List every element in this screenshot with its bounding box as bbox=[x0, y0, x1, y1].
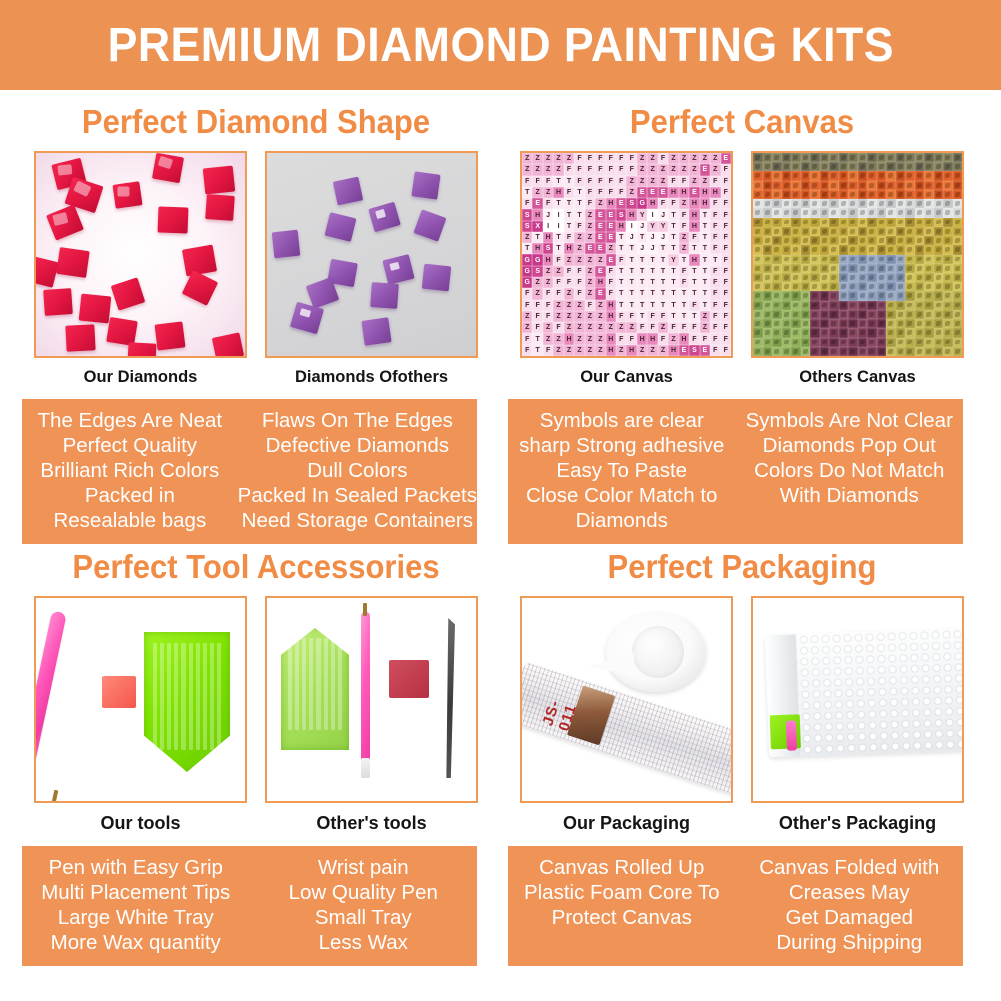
canvas-grid-cell bbox=[896, 218, 906, 227]
canvas-symbol-cell: H bbox=[532, 209, 542, 220]
canvas-grid-cell bbox=[820, 273, 830, 282]
section-diamond-shape: Perfect Diamond Shape bbox=[22, 103, 490, 544]
our-canvas-image: ZZZZZFFFFFFZZFZZZZZEZZZZFFFFFFFZZZZZZEZF… bbox=[520, 151, 733, 358]
canvas-symbol-cell: F bbox=[553, 322, 563, 333]
canvas-grid-cell bbox=[810, 162, 820, 171]
canvas-grid-cell bbox=[810, 328, 820, 337]
canvas-grid-cell bbox=[953, 255, 963, 264]
canvas-grid-cell bbox=[934, 162, 944, 171]
canvas-grid-cell bbox=[791, 255, 801, 264]
canvas-symbol-cell: G bbox=[522, 254, 532, 265]
canvas-symbol-cell: G bbox=[522, 277, 532, 288]
canvas-grid-cell bbox=[934, 199, 944, 208]
canvas-grid-cell bbox=[782, 338, 792, 347]
canvas-symbol-cell: S bbox=[532, 266, 542, 277]
canvas-symbol-cell: F bbox=[721, 254, 731, 265]
canvas-symbol-cell: S bbox=[689, 345, 699, 356]
canvas-symbol-cell: J bbox=[658, 209, 668, 220]
canvas-symbol-cell: Z bbox=[595, 345, 605, 356]
canvas-symbol-cell: Z bbox=[585, 277, 595, 288]
canvas-grid-cell bbox=[791, 291, 801, 300]
blurred-canvas-grid bbox=[753, 153, 962, 356]
canvas-symbol-cell: F bbox=[606, 266, 616, 277]
diamond-chip bbox=[212, 332, 244, 358]
canvas-symbol-cell: T bbox=[626, 300, 636, 311]
canvas-grid-cell bbox=[810, 236, 820, 245]
canvas-symbol-cell: E bbox=[616, 198, 626, 209]
canvas-symbol-cell: F bbox=[606, 164, 616, 175]
canvas-symbol-cell: X bbox=[532, 221, 542, 232]
canvas-grid-cell bbox=[829, 310, 839, 319]
canvas-symbol-cell: Z bbox=[543, 277, 553, 288]
canvas-grid-cell bbox=[886, 181, 896, 190]
canvas-grid-cell bbox=[772, 273, 782, 282]
canvas-grid-cell bbox=[877, 245, 887, 254]
canvas-symbol-cell: Z bbox=[647, 176, 657, 187]
canvas-symbol-cell: F bbox=[585, 187, 595, 198]
canvas-grid-cell bbox=[829, 227, 839, 236]
canvas-grid-cell bbox=[867, 199, 877, 208]
canvas-grid-cell bbox=[905, 245, 915, 254]
canvas-grid-cell bbox=[934, 171, 944, 180]
canvas-symbol-cell: T bbox=[679, 254, 689, 265]
page-title: PREMIUM DIAMOND PAINTING KITS bbox=[107, 18, 893, 73]
canvas-grid-cell bbox=[886, 199, 896, 208]
section-packaging: Perfect Packaging JS-011 Our Packaging bbox=[508, 548, 976, 966]
panel-row: JS-011 Our Packaging Other's Packaging bbox=[508, 596, 976, 834]
canvas-symbol-cell: H bbox=[595, 277, 605, 288]
canvas-grid-cell bbox=[829, 208, 839, 217]
canvas-grid-cell bbox=[867, 181, 877, 190]
canvas-grid-cell bbox=[782, 291, 792, 300]
canvas-grid-cell bbox=[915, 319, 925, 328]
canvas-symbol-cell: F bbox=[637, 322, 647, 333]
textbox-column-ours: Pen with Easy Grip Multi Placement Tips … bbox=[22, 855, 250, 955]
canvas-symbol-cell: T bbox=[658, 288, 668, 299]
canvas-symbol-cell: T bbox=[522, 243, 532, 254]
canvas-grid-cell bbox=[820, 181, 830, 190]
canvas-grid-cell bbox=[829, 171, 839, 180]
canvas-grid-cell bbox=[953, 319, 963, 328]
canvas-symbol-cell: F bbox=[658, 333, 668, 344]
canvas-grid-cell bbox=[763, 199, 773, 208]
canvas-symbol-cell: J bbox=[647, 243, 657, 254]
canvas-symbol-cell: T bbox=[668, 277, 678, 288]
canvas-grid-cell bbox=[801, 218, 811, 227]
canvas-grid-cell bbox=[915, 199, 925, 208]
canvas-grid-cell bbox=[848, 245, 858, 254]
text-line: Plastic Foam Core To bbox=[508, 880, 736, 905]
canvas-symbol-cell: T bbox=[668, 266, 678, 277]
canvas-grid-cell bbox=[858, 255, 868, 264]
canvas-symbol-cell: Z bbox=[564, 153, 574, 164]
canvas-grid-cell bbox=[839, 162, 849, 171]
canvas-symbol-cell: T bbox=[626, 288, 636, 299]
canvas-grid-cell bbox=[839, 208, 849, 217]
canvas-grid-cell bbox=[763, 218, 773, 227]
panel-row: ZZZZZFFFFFFZZFZZZZZEZZZZFFFFFFFZZZZZZEZF… bbox=[508, 151, 976, 387]
canvas-grid-cell bbox=[763, 310, 773, 319]
text-line: Pen with Easy Grip bbox=[22, 855, 250, 880]
canvas-grid-cell bbox=[763, 319, 773, 328]
canvas-grid-cell bbox=[810, 338, 820, 347]
canvas-grid-cell bbox=[810, 190, 820, 199]
text-line: sharp Strong adhesive bbox=[508, 433, 736, 458]
canvas-grid-cell bbox=[924, 190, 934, 199]
canvas-symbol-cell: F bbox=[710, 345, 720, 356]
canvas-symbol-cell: F bbox=[606, 277, 616, 288]
canvas-grid-cell bbox=[886, 301, 896, 310]
diamond-chip bbox=[370, 282, 399, 309]
canvas-grid-cell bbox=[848, 190, 858, 199]
textbox-column-others: Symbols Are Not Clear Diamonds Pop Out C… bbox=[736, 408, 964, 533]
canvas-grid-cell bbox=[934, 301, 944, 310]
canvas-symbol-cell: F bbox=[710, 209, 720, 220]
canvas-grid-cell bbox=[924, 227, 934, 236]
canvas-grid-cell bbox=[877, 338, 887, 347]
canvas-symbol-cell: F bbox=[616, 311, 626, 322]
canvas-grid-cell bbox=[858, 208, 868, 217]
canvas-symbol-cell: Z bbox=[522, 232, 532, 243]
canvas-grid-cell bbox=[943, 236, 953, 245]
canvas-symbol-cell: F bbox=[522, 288, 532, 299]
canvas-grid-cell bbox=[848, 199, 858, 208]
canvas-grid-cell bbox=[915, 273, 925, 282]
canvas-grid-cell bbox=[905, 236, 915, 245]
canvas-grid-cell bbox=[848, 264, 858, 273]
canvas-grid-cell bbox=[820, 153, 830, 162]
canvas-grid-cell bbox=[801, 310, 811, 319]
canvas-symbol-cell: F bbox=[721, 266, 731, 277]
canvas-symbol-cell: I bbox=[647, 209, 657, 220]
canvas-grid-cell bbox=[772, 218, 782, 227]
canvas-grid-cell bbox=[953, 190, 963, 199]
canvas-grid-cell bbox=[839, 171, 849, 180]
canvas-symbol-cell: F bbox=[679, 209, 689, 220]
diamond-chip bbox=[152, 153, 184, 183]
canvas-grid-cell bbox=[934, 338, 944, 347]
canvas-symbol-cell: T bbox=[553, 198, 563, 209]
canvas-grid-cell bbox=[820, 218, 830, 227]
canvas-symbol-cell: F bbox=[564, 187, 574, 198]
canvas-grid-cell bbox=[858, 171, 868, 180]
canvas-grid-cell bbox=[896, 190, 906, 199]
panel-other-diamonds: Diamonds Ofothers bbox=[265, 151, 478, 387]
canvas-symbol-cell: Z bbox=[553, 300, 563, 311]
canvas-symbol-cell: T bbox=[637, 266, 647, 277]
canvas-grid-cell bbox=[801, 319, 811, 328]
canvas-symbol-cell: F bbox=[710, 288, 720, 299]
canvas-symbol-cell: S bbox=[522, 221, 532, 232]
canvas-symbol-cell: T bbox=[689, 277, 699, 288]
canvas-grid-cell bbox=[782, 245, 792, 254]
panel-row: Our Diamonds bbox=[22, 151, 490, 387]
textbox-column-others: Canvas Folded with Creases May Get Damag… bbox=[736, 855, 964, 955]
text-line: Multi Placement Tips bbox=[22, 880, 250, 905]
our-tools-image bbox=[34, 596, 247, 803]
canvas-symbol-cell: H bbox=[564, 243, 574, 254]
canvas-symbol-cell: T bbox=[637, 254, 647, 265]
canvas-symbol-cell: Z bbox=[574, 333, 584, 344]
section-title: Perfect Diamond Shape bbox=[36, 103, 476, 141]
canvas-grid-cell bbox=[791, 227, 801, 236]
canvas-symbol-cell: F bbox=[543, 345, 553, 356]
canvas-symbol-cell: Z bbox=[585, 254, 595, 265]
canvas-symbol-cell: I bbox=[553, 221, 563, 232]
canvas-symbol-cell: Z bbox=[668, 153, 678, 164]
canvas-symbol-cell: Z bbox=[595, 322, 605, 333]
canvas-symbol-cell: T bbox=[647, 266, 657, 277]
canvas-grid-cell bbox=[886, 171, 896, 180]
canvas-symbol-cell: F bbox=[679, 176, 689, 187]
canvas-symbol-cell: T bbox=[668, 288, 678, 299]
canvas-symbol-cell: T bbox=[679, 311, 689, 322]
canvas-grid-cell bbox=[782, 153, 792, 162]
others-packaging-image bbox=[751, 596, 964, 803]
pen-grip bbox=[361, 758, 370, 778]
canvas-symbol-cell: E bbox=[595, 232, 605, 243]
canvas-grid-cell bbox=[896, 255, 906, 264]
canvas-grid-cell bbox=[810, 301, 820, 310]
canvas-grid-cell bbox=[810, 310, 820, 319]
canvas-symbol-cell: H bbox=[710, 187, 720, 198]
canvas-symbol-cell: H bbox=[543, 232, 553, 243]
canvas-symbol-cell: Z bbox=[595, 254, 605, 265]
canvas-grid-cell bbox=[943, 291, 953, 300]
canvas-symbol-cell: F bbox=[606, 176, 616, 187]
canvas-symbol-cell: E bbox=[606, 254, 616, 265]
text-line: Creases May bbox=[736, 880, 964, 905]
canvas-symbol-cell: F bbox=[522, 176, 532, 187]
canvas-grid-cell bbox=[763, 208, 773, 217]
text-line: Small Tray bbox=[250, 905, 478, 930]
others-tools-image bbox=[265, 596, 478, 803]
canvas-grid-cell bbox=[953, 208, 963, 217]
text-line: Resealable bags bbox=[22, 508, 238, 533]
canvas-grid-cell bbox=[791, 208, 801, 217]
canvas-symbol-cell: F bbox=[721, 288, 731, 299]
canvas-grid-cell bbox=[810, 245, 820, 254]
canvas-symbol-cell: I bbox=[543, 221, 553, 232]
canvas-grid-cell bbox=[791, 328, 801, 337]
canvas-symbol-cell: T bbox=[637, 232, 647, 243]
canvas-grid-cell bbox=[905, 227, 915, 236]
canvas-symbol-cell: E bbox=[721, 153, 731, 164]
canvas-grid-cell bbox=[829, 291, 839, 300]
canvas-grid-cell bbox=[753, 236, 763, 245]
canvas-grid-cell bbox=[820, 264, 830, 273]
text-line: Diamonds bbox=[508, 508, 736, 533]
canvas-symbol-cell: T bbox=[689, 266, 699, 277]
canvas-grid-cell bbox=[782, 162, 792, 171]
canvas-symbol-cell: Z bbox=[658, 322, 668, 333]
canvas-symbol-cell: T bbox=[616, 266, 626, 277]
text-line: Symbols are clear bbox=[508, 408, 736, 433]
canvas-grid-cell bbox=[905, 273, 915, 282]
canvas-symbol-cell: F bbox=[710, 266, 720, 277]
panel-other-packaging: Other's Packaging bbox=[751, 596, 964, 834]
canvas-grid-cell bbox=[763, 236, 773, 245]
canvas-symbol-cell: F bbox=[721, 209, 731, 220]
canvas-grid-cell bbox=[867, 310, 877, 319]
canvas-grid-cell bbox=[763, 171, 773, 180]
canvas-symbol-cell: F bbox=[595, 153, 605, 164]
canvas-grid-cell bbox=[877, 171, 887, 180]
canvas-grid-cell bbox=[915, 310, 925, 319]
canvas-symbol-cell: Z bbox=[522, 164, 532, 175]
canvas-symbol-cell: Z bbox=[543, 153, 553, 164]
canvas-grid-cell bbox=[953, 245, 963, 254]
panel-others-canvas: Others Canvas bbox=[751, 151, 964, 387]
canvas-grid-cell bbox=[905, 162, 915, 171]
canvas-grid-cell bbox=[772, 227, 782, 236]
canvas-grid-cell bbox=[782, 301, 792, 310]
canvas-grid-cell bbox=[934, 181, 944, 190]
canvas-symbol-cell: F bbox=[710, 322, 720, 333]
panel-caption: Our Diamonds bbox=[34, 368, 247, 387]
canvas-grid-cell bbox=[791, 218, 801, 227]
diamond-chip bbox=[158, 206, 189, 233]
canvas-symbol-cell: Z bbox=[585, 221, 595, 232]
canvas-grid-cell bbox=[848, 171, 858, 180]
canvas-symbol-cell: T bbox=[616, 288, 626, 299]
text-line: Dull Colors bbox=[238, 458, 477, 483]
canvas-grid-cell bbox=[839, 199, 849, 208]
canvas-symbol-cell: T bbox=[553, 176, 563, 187]
canvas-symbol-cell: F bbox=[595, 176, 605, 187]
canvas-grid-cell bbox=[820, 162, 830, 171]
canvas-grid-cell bbox=[858, 181, 868, 190]
canvas-grid-cell bbox=[763, 282, 773, 291]
canvas-symbol-cell: Z bbox=[647, 164, 657, 175]
canvas-symbol-cell: F bbox=[689, 232, 699, 243]
canvas-symbol-cell: E bbox=[647, 187, 657, 198]
panel-caption: Other's Packaging bbox=[751, 813, 964, 834]
canvas-symbol-cell: E bbox=[679, 345, 689, 356]
canvas-symbol-cell: Z bbox=[585, 333, 595, 344]
canvas-symbol-cell: F bbox=[616, 153, 626, 164]
canvas-symbol-cell: T bbox=[626, 266, 636, 277]
canvas-symbol-cell: Z bbox=[689, 164, 699, 175]
canvas-symbol-cell: T bbox=[564, 209, 574, 220]
canvas-grid-cell bbox=[829, 181, 839, 190]
canvas-symbol-cell: F bbox=[710, 311, 720, 322]
canvas-symbol-cell: Z bbox=[532, 187, 542, 198]
canvas-symbol-cell: Z bbox=[564, 322, 574, 333]
canvas-grid-cell bbox=[943, 282, 953, 291]
canvas-symbol-cell: H bbox=[647, 333, 657, 344]
section-tool-accessories: Perfect Tool Accessories Our tools bbox=[22, 548, 490, 966]
canvas-symbol-cell: E bbox=[595, 209, 605, 220]
canvas-symbol-cell: Z bbox=[574, 254, 584, 265]
canvas-symbol-cell: J bbox=[637, 243, 647, 254]
canvas-symbol-cell: E bbox=[700, 345, 710, 356]
canvas-symbol-cell: Z bbox=[564, 300, 574, 311]
wax-square bbox=[102, 676, 136, 708]
canvas-grid-cell bbox=[896, 328, 906, 337]
canvas-symbol-cell: Z bbox=[616, 322, 626, 333]
canvas-grid-cell bbox=[753, 199, 763, 208]
canvas-symbol-cell: Z bbox=[626, 187, 636, 198]
canvas-symbol-cell: S bbox=[616, 209, 626, 220]
canvas-grid-cell bbox=[820, 338, 830, 347]
diamond-chip bbox=[56, 247, 89, 278]
canvas-grid-cell bbox=[829, 162, 839, 171]
canvas-grid-cell bbox=[943, 162, 953, 171]
canvas-grid-cell bbox=[763, 328, 773, 337]
canvas-grid-cell bbox=[943, 255, 953, 264]
canvas-symbol-cell: T bbox=[700, 288, 710, 299]
canvas-grid-cell bbox=[772, 171, 782, 180]
canvas-grid-cell bbox=[924, 338, 934, 347]
canvas-grid-cell bbox=[820, 282, 830, 291]
canvas-symbol-cell: Z bbox=[668, 164, 678, 175]
canvas-grid-cell bbox=[820, 301, 830, 310]
canvas-symbol-cell: G bbox=[532, 254, 542, 265]
canvas-symbol-cell: T bbox=[647, 300, 657, 311]
canvas-grid-cell bbox=[753, 282, 763, 291]
canvas-grid-cell bbox=[953, 310, 963, 319]
canvas-grid-cell bbox=[810, 153, 820, 162]
canvas-symbol-cell: E bbox=[595, 288, 605, 299]
canvas-grid-cell bbox=[782, 199, 792, 208]
canvas-grid-cell bbox=[924, 310, 934, 319]
canvas-grid-cell bbox=[867, 264, 877, 273]
diamond-chip bbox=[203, 166, 236, 195]
canvas-symbol-cell: E bbox=[700, 164, 710, 175]
canvas-symbol-cell: F bbox=[658, 198, 668, 209]
canvas-symbol-cell: Y bbox=[647, 221, 657, 232]
canvas-grid-cell bbox=[763, 301, 773, 310]
canvas-grid-cell bbox=[753, 227, 763, 236]
canvas-symbol-cell: T bbox=[574, 187, 584, 198]
canvas-symbol-cell: Z bbox=[637, 153, 647, 164]
canvas-grid-cell bbox=[943, 199, 953, 208]
canvas-symbol-cell: Z bbox=[585, 288, 595, 299]
canvas-grid-cell bbox=[820, 208, 830, 217]
canvas-grid-cell bbox=[877, 291, 887, 300]
canvas-symbol-cell: Z bbox=[543, 322, 553, 333]
canvas-grid-cell bbox=[848, 255, 858, 264]
canvas-symbol-cell: H bbox=[564, 333, 574, 344]
canvas-grid-cell bbox=[953, 328, 963, 337]
canvas-grid-cell bbox=[848, 310, 858, 319]
canvas-grid-cell bbox=[801, 245, 811, 254]
canvas-grid-cell bbox=[858, 245, 868, 254]
canvas-grid-cell bbox=[829, 328, 839, 337]
canvas-grid-cell bbox=[934, 273, 944, 282]
canvas-symbol-cell: J bbox=[637, 221, 647, 232]
diamond-chip bbox=[182, 245, 217, 277]
canvas-symbol-cell: H bbox=[543, 254, 553, 265]
canvas-symbol-cell: E bbox=[689, 187, 699, 198]
canvas-symbol-cell: T bbox=[637, 311, 647, 322]
canvas-grid-cell bbox=[953, 347, 963, 356]
canvas-grid-cell bbox=[772, 310, 782, 319]
canvas-symbol-cell: F bbox=[574, 288, 584, 299]
canvas-symbol-cell: Z bbox=[658, 164, 668, 175]
canvas-grid-cell bbox=[753, 328, 763, 337]
canvas-grid-cell bbox=[829, 255, 839, 264]
text-line: Easy To Paste bbox=[508, 458, 736, 483]
canvas-grid-cell bbox=[877, 347, 887, 356]
text-line: Diamonds Pop Out bbox=[736, 433, 964, 458]
canvas-symbol-cell: F bbox=[574, 277, 584, 288]
canvas-grid-cell bbox=[934, 282, 944, 291]
canvas-grid-cell bbox=[877, 227, 887, 236]
canvas-grid-cell bbox=[801, 227, 811, 236]
diamond-chip bbox=[411, 171, 440, 199]
